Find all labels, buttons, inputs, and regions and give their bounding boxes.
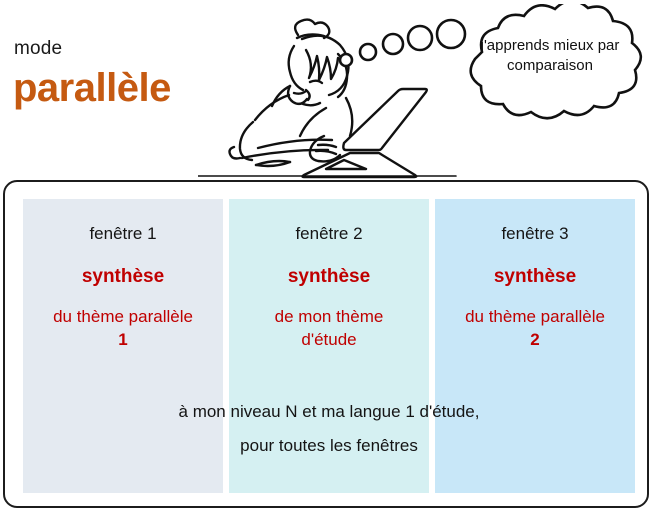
thought-dot-1 [340,54,352,66]
thought-dot-3 [383,34,403,54]
header-zone: mode parallèle [0,0,657,180]
window-2-subtitle: de mon thème d'étude [229,305,429,351]
window-1-label: fenêtre 1 [23,223,223,245]
thought-dot-2 [360,44,376,60]
footer-line-1: à mon niveau N et ma langue 1 d'étude, [23,395,635,429]
window-3-synthesis-label: synthèse [435,265,635,289]
thought-dot-5 [437,20,465,48]
window-1-subtitle-line1: du thème parallèle [53,307,193,326]
window-3-subtitle-line2: 2 [530,330,539,349]
window-2-subtitle-line2: d'étude [301,330,356,349]
mode-label: mode [14,38,62,60]
window-2-synthesis-label: synthèse [229,265,429,289]
footer-note: à mon niveau N et ma langue 1 d'étude, p… [23,395,635,463]
window-2-label: fenêtre 2 [229,223,429,245]
window-3-label: fenêtre 3 [435,223,635,245]
window-3-subtitle-line1: du thème parallèle [465,307,605,326]
footer-line-2: pour toutes les fenêtres [23,429,635,463]
window-2-subtitle-line1: de mon thème [275,307,384,326]
thought-bubble: j'apprends mieux par comparaison [330,4,657,150]
mode-title: parallèle [13,66,171,111]
window-1-subtitle-line2: 1 [118,330,127,349]
thought-dot-4 [408,26,432,50]
thought-bubble-text: j'apprends mieux par comparaison [478,36,622,76]
parallel-mode-box: fenêtre 1 synthèse du thème parallèle 1 … [3,180,649,508]
window-1-synthesis-label: synthèse [23,265,223,289]
window-1-subtitle: du thème parallèle 1 [23,305,223,351]
window-3-subtitle: du thème parallèle 2 [435,305,635,351]
